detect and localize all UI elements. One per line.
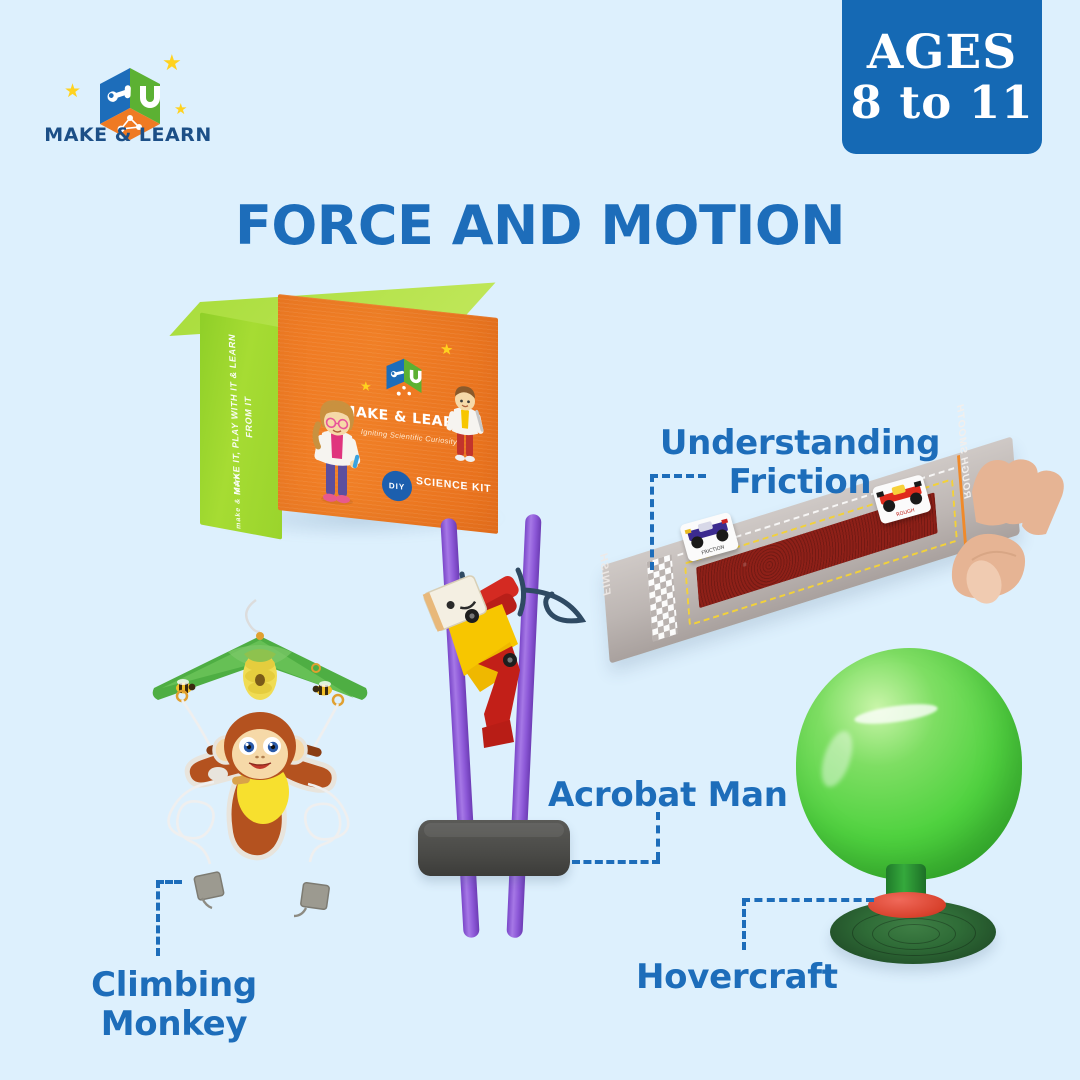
monkey-weight (194, 872, 224, 908)
brand-name: MAKE & LEARN (38, 124, 218, 146)
acrobat-foam-base (418, 820, 570, 876)
connector-climbing-monkey (156, 880, 196, 960)
star-icon: ★ (360, 379, 372, 393)
ages-badge-line1: AGES (867, 28, 1017, 79)
kid-girl-illustration (304, 393, 370, 510)
monkey-weight (294, 882, 330, 916)
star-icon: ★ (174, 102, 187, 117)
star-icon: ★ (64, 82, 81, 101)
ramp-smooth-label: SMOOTH (954, 402, 968, 455)
connector-hovercraft (742, 898, 882, 954)
kid-boy-illustration (442, 382, 488, 467)
box-side-panel: MAKE IT, PLAY WITH IT & LEARN FROM IT ma… (200, 312, 282, 539)
star-icon: ★ (440, 342, 453, 358)
connector-acrobat-man (572, 812, 662, 864)
brand-logo: ★ ★ ★ MAKE & LEARN (38, 46, 218, 156)
page-title: FORCE AND MOTION (0, 194, 1080, 257)
connector-segment-horizontal (742, 898, 874, 902)
hand-holding-ramp (942, 458, 1080, 628)
connector-segment-vertical (742, 898, 746, 950)
callout-label-understanding-friction: Understanding Friction (650, 424, 950, 503)
callout-label-hovercraft: Hovercraft (636, 958, 838, 997)
connector-segment-horizontal (572, 860, 660, 864)
acrobat-man-image (404, 512, 604, 952)
box-side-text: MAKE IT, PLAY WITH IT & LEARN FROM IT (225, 323, 258, 509)
box-cube-logo-icon (376, 343, 432, 405)
connector-segment-vertical (156, 880, 160, 956)
climbing-monkey-image (110, 596, 410, 926)
ages-badge: AGES 8 to 11 (842, 0, 1042, 154)
callout-label-climbing-monkey: Climbing Monkey (0, 966, 348, 1045)
star-icon: ★ (162, 52, 182, 74)
product-poster: ★ ★ ★ MAKE & LEARN AGES 8 to 11 FORCE AN… (0, 0, 1080, 1080)
connector-segment-vertical (656, 812, 660, 860)
ages-badge-line2: 8 to 11 (850, 79, 1033, 128)
callout-label-acrobat-man: Acrobat Man (548, 776, 788, 815)
disc-ring (888, 924, 940, 944)
box-front-panel: ★ ★ MAKE & LEARN Igniting Scientific Cur… (278, 294, 498, 534)
